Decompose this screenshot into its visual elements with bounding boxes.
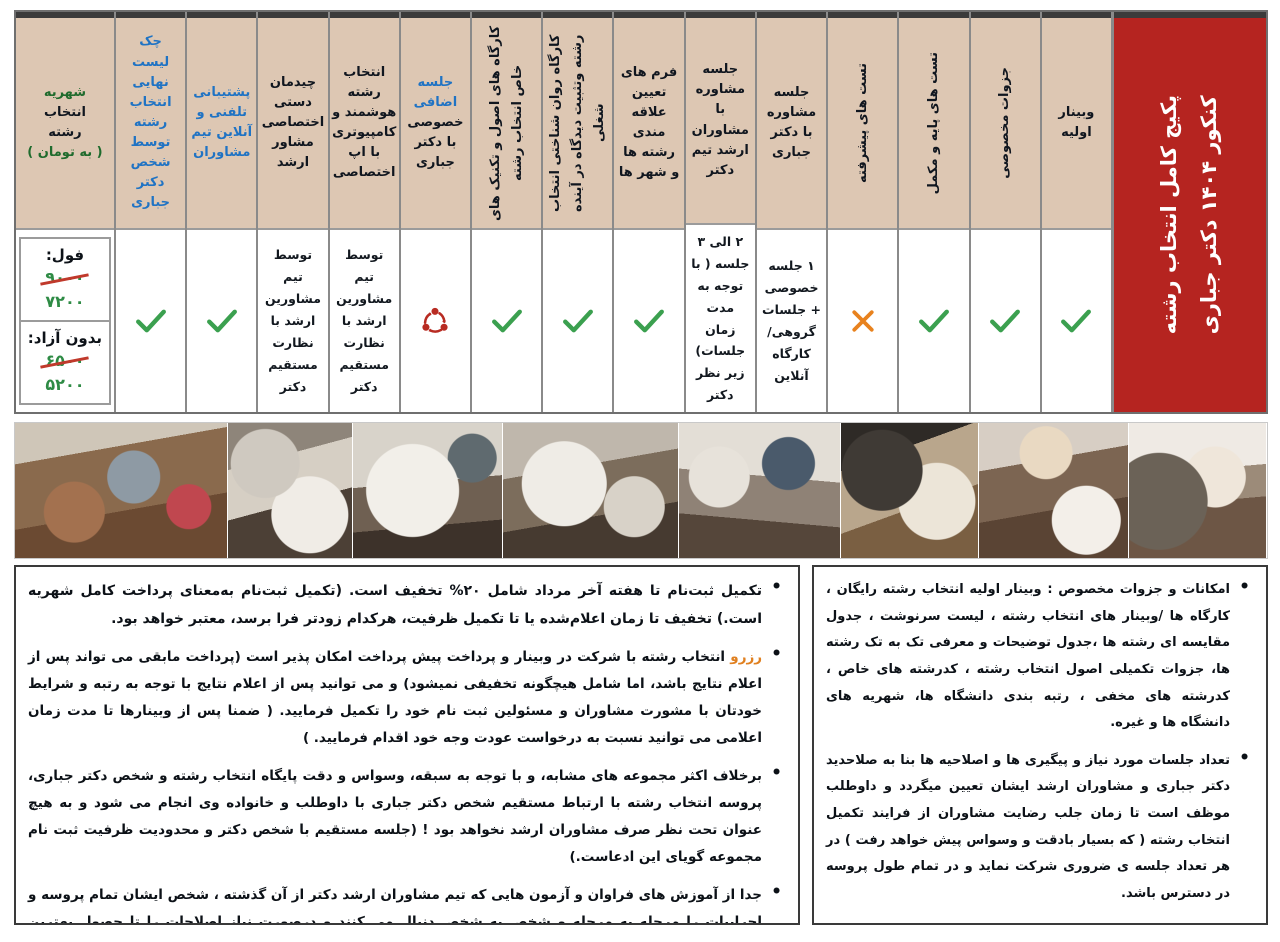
note-item: جدا از آموزش های فراوان و آزمون هایی که … (28, 882, 784, 925)
column-value: فول: ۹۰۰۰ ۷۲۰۰ بدون آزاد: ۶۵۰۰ ۵۲۰۰ (16, 230, 114, 412)
check-icon (561, 304, 595, 338)
gallery-photo-printed-documents: printed-documents (353, 423, 503, 558)
column-final-checklist: چک لیست نهایی انتخاب رشته توسط شخص دکتر … (116, 12, 187, 412)
column-value: ۲ الی ۳ جلسه ( با توجه به مدت زمان جلسات… (686, 225, 755, 412)
price-without-azad: بدون آزاد: ۶۵۰۰ ۵۲۰۰ (19, 322, 111, 405)
column-value-text: ۱ جلسه خصوصی + جلسات گروهی/ کارگاه آنلای… (761, 255, 822, 386)
column-header: جلسه اضافی خصوصی با دکتر جباری (401, 12, 470, 230)
cross-icon (849, 307, 877, 335)
column-header: کارگاه روان شناختی انتخاب رشته وتثبیت دی… (543, 12, 612, 230)
notes-box-features: امکانات و جزوات مخصوص : وبینار اولیه انت… (812, 565, 1268, 925)
pricing-comparison-table: پکیج کامل انتخاب رشته کنکور ۱۴۰۴ دکتر جب… (0, 0, 1280, 420)
photo-image (841, 423, 978, 558)
column-value-text: ۲ الی ۳ جلسه ( با توجه به مدت زمان جلسات… (690, 231, 751, 406)
note-item: تکمیل ثبت‌نام تا هفته آخر مرداد شامل ۲۰%… (28, 577, 784, 633)
column-tuition-price: شهریه انتخاب رشته ( به تومان ) فول: ۹۰۰۰… (16, 12, 116, 412)
column-value (899, 230, 968, 412)
gallery-photo-student-desk-notes: student-desk-notes (979, 423, 1129, 558)
note-item: برخلاف اکثر مجموعه های مشابه، و با توجه … (28, 763, 784, 871)
column-header-label: وبینار اولیه (1046, 103, 1107, 143)
column-session-with-senior-advisors: جلسه مشاوره با مشاوران ارشد تیم دکتر ۲ ا… (686, 12, 757, 412)
note-item-reservation: رزرو انتخاب رشته با شرکت در وبینار و پرد… (28, 644, 784, 752)
column-special-handouts: جزوات مخصوصی (971, 12, 1042, 412)
column-base-supplementary-tests: تست های پایه و مکمل (899, 12, 970, 412)
gallery-photo-seminar-audience-hall: seminar-audience-hall (15, 423, 228, 558)
photo-image (679, 423, 841, 558)
package-title-line1: پکیج کامل انتخاب رشته (1157, 95, 1181, 334)
column-header: فرم های تعیین علاقه مندی رشته ها و شهر ه… (614, 12, 683, 230)
check-icon (490, 304, 524, 338)
column-manual-arrangement: چیدمان دستی اختصاصی مشاور ارشد توسط تیم … (258, 12, 329, 412)
photo-image (15, 423, 227, 558)
column-webinar-initial: وبینار اولیه (1042, 12, 1114, 412)
tuition-header-line2: انتخاب (44, 105, 86, 120)
check-icon (134, 304, 168, 338)
column-header-label: جلسه مشاوره با مشاوران ارشد تیم دکتر (690, 60, 751, 181)
photo-gallery-strip: consultation-session-laptop student-desk… (14, 422, 1268, 559)
photo-image (228, 423, 352, 558)
column-interest-forms: فرم های تعیین علاقه مندی رشته ها و شهر ه… (614, 12, 685, 412)
check-icon (917, 304, 951, 338)
note-item: امکانات و جزوات مخصوص : وبینار اولیه انت… (826, 577, 1252, 737)
column-header-label: شهریه انتخاب رشته ( به تومان ) (27, 83, 102, 164)
column-header-label: پشتیبانی تلفنی و آنلاین تیم مشاوران (191, 83, 252, 164)
photo-image (353, 423, 502, 558)
column-value (472, 230, 541, 412)
note-item: تعداد جلسات مورد نیاز و پیگیری ها و اصلا… (826, 748, 1252, 908)
column-header: چک لیست نهایی انتخاب رشته توسط شخص دکتر … (116, 12, 185, 230)
price-full-old: ۹۰۰۰ (45, 268, 84, 287)
column-value-text: توسط تیم مشاورین ارشد با نظارت مستقیم دک… (334, 244, 395, 397)
tuition-header-line3: رشته (48, 125, 81, 140)
column-header-label: فرم های تعیین علاقه مندی رشته ها و شهر ه… (618, 63, 679, 184)
package-title-banner: پکیج کامل انتخاب رشته کنکور ۱۴۰۴ دکتر جب… (1114, 12, 1266, 412)
photo-image (979, 423, 1128, 558)
notes-list-terms: تکمیل ثبت‌نام تا هفته آخر مرداد شامل ۲۰%… (28, 577, 784, 925)
price-without-azad-old: ۶۵۰۰ (45, 351, 84, 370)
column-header: تست های پیشرفته (828, 12, 897, 230)
column-header: چیدمان دستی اختصاصی مشاور ارشد (258, 12, 327, 230)
gallery-photo-consultation-session-laptop: consultation-session-laptop (1129, 423, 1267, 558)
column-header-label: جلسه مشاوره با دکتر جباری (761, 83, 822, 164)
column-header: جزوات مخصوصی (971, 12, 1040, 230)
notes-box-terms: تکمیل ثبت‌نام تا هفته آخر مرداد شامل ۲۰%… (14, 565, 800, 925)
gallery-photo-tablet-ipad-notes: tablet-ipad-notes (841, 423, 979, 558)
table-inner: پکیج کامل انتخاب رشته کنکور ۱۴۰۴ دکتر جب… (14, 10, 1268, 414)
column-header: شهریه انتخاب رشته ( به تومان ) (16, 12, 114, 230)
column-session-with-dr-jabbari: جلسه مشاوره با دکتر جباری ۱ جلسه خصوصی +… (757, 12, 828, 412)
column-header-label: کارگاه های اصول و تکنیک های خاص انتخاب ر… (485, 24, 529, 222)
column-extra-private-session: جلسه اضافی خصوصی با دکتر جباری (401, 12, 472, 412)
notes-section: امکانات و جزوات مخصوص : وبینار اولیه انت… (14, 565, 1268, 925)
column-header: وبینار اولیه (1042, 12, 1111, 230)
column-header-label: جلسه اضافی خصوصی با دکتر جباری (405, 73, 466, 174)
reservation-highlight: رزرو (730, 649, 762, 665)
gallery-photo-laptop-video-call: laptop-video-call (679, 423, 842, 558)
column-smart-computer-selection: انتخاب رشته هوشمند و کامپیوتری با اپ اخت… (330, 12, 401, 412)
package-title-line2: کنکور ۱۴۰۴ دکتر جباری (1197, 95, 1221, 334)
column-value (971, 230, 1040, 412)
check-icon (205, 304, 239, 338)
column-advanced-tests: تست های پیشرفته (828, 12, 899, 412)
column-value (401, 230, 470, 412)
column-header: تست های پایه و مکمل (899, 12, 968, 230)
column-header: انتخاب رشته هوشمند و کامپیوتری با اپ اخت… (330, 12, 399, 230)
column-header: جلسه مشاوره با دکتر جباری (757, 12, 826, 230)
column-phone-online-support: پشتیبانی تلفنی و آنلاین تیم مشاوران (187, 12, 258, 412)
check-icon (988, 304, 1022, 338)
column-value-text: توسط تیم مشاورین ارشد با نظارت مستقیم دک… (262, 244, 323, 397)
column-header-label-rest: خصوصی با دکتر جباری (407, 115, 463, 170)
price-full-label: فول: (23, 246, 107, 264)
column-value (614, 230, 683, 412)
column-value (543, 230, 612, 412)
column-header-label: چیدمان دستی اختصاصی مشاور ارشد (262, 73, 325, 174)
column-value (187, 230, 256, 412)
column-value: توسط تیم مشاورین ارشد با نظارت مستقیم دک… (258, 230, 327, 412)
price-full-new: ۷۲۰۰ (23, 292, 107, 311)
price-without-azad-new: ۵۲۰۰ (23, 375, 107, 394)
column-header-label: انتخاب رشته هوشمند و کامپیوتری با اپ اخت… (332, 63, 396, 184)
tuition-header-line4: ( به تومان ) (27, 145, 102, 160)
gallery-photo-hand-holding-schedule: hand-holding-schedule (228, 423, 353, 558)
column-header-label: چک لیست نهایی انتخاب رشته توسط شخص دکتر … (120, 32, 181, 213)
check-icon (1059, 304, 1093, 338)
photo-image (1129, 423, 1266, 558)
package-title-text: پکیج کامل انتخاب رشته کنکور ۱۴۰۴ دکتر جب… (1150, 95, 1230, 334)
column-header-label: کارگاه روان شناختی انتخاب رشته وتثبیت دی… (545, 24, 611, 222)
column-value: ۱ جلسه خصوصی + جلسات گروهی/ کارگاه آنلای… (757, 230, 826, 412)
column-header-label: تست های پیشرفته (852, 63, 874, 183)
price-full: فول: ۹۰۰۰ ۷۲۰۰ (19, 237, 111, 322)
photo-image (503, 423, 677, 558)
column-value (828, 230, 897, 412)
column-value (116, 230, 185, 412)
cycle-arrows-icon (418, 304, 452, 338)
note-item-text: انتخاب رشته با شرکت در وبینار و پرداخت پ… (28, 649, 762, 746)
column-header-label: جزوات مخصوصی (994, 67, 1016, 179)
column-psychology-workshop: کارگاه روان شناختی انتخاب رشته وتثبیت دی… (543, 12, 614, 412)
column-header-label-blue: جلسه اضافی (414, 75, 458, 110)
price-without-azad-label: بدون آزاد: (23, 329, 107, 347)
gallery-photo-group-office-desk: group-office-desk (503, 423, 678, 558)
column-value (1042, 230, 1111, 412)
column-header: پشتیبانی تلفنی و آنلاین تیم مشاوران (187, 12, 256, 230)
check-icon (632, 304, 666, 338)
tuition-header-line1: شهریه (44, 85, 86, 100)
column-value: توسط تیم مشاورین ارشد با نظارت مستقیم دک… (330, 230, 399, 412)
notes-list-features: امکانات و جزوات مخصوص : وبینار اولیه انت… (826, 577, 1252, 908)
column-principles-workshops: کارگاه های اصول و تکنیک های خاص انتخاب ر… (472, 12, 543, 412)
column-header: جلسه مشاوره با مشاوران ارشد تیم دکتر (686, 12, 755, 225)
column-header-label: تست های پایه و مکمل (923, 52, 945, 194)
column-header: کارگاه های اصول و تکنیک های خاص انتخاب ر… (472, 12, 541, 230)
